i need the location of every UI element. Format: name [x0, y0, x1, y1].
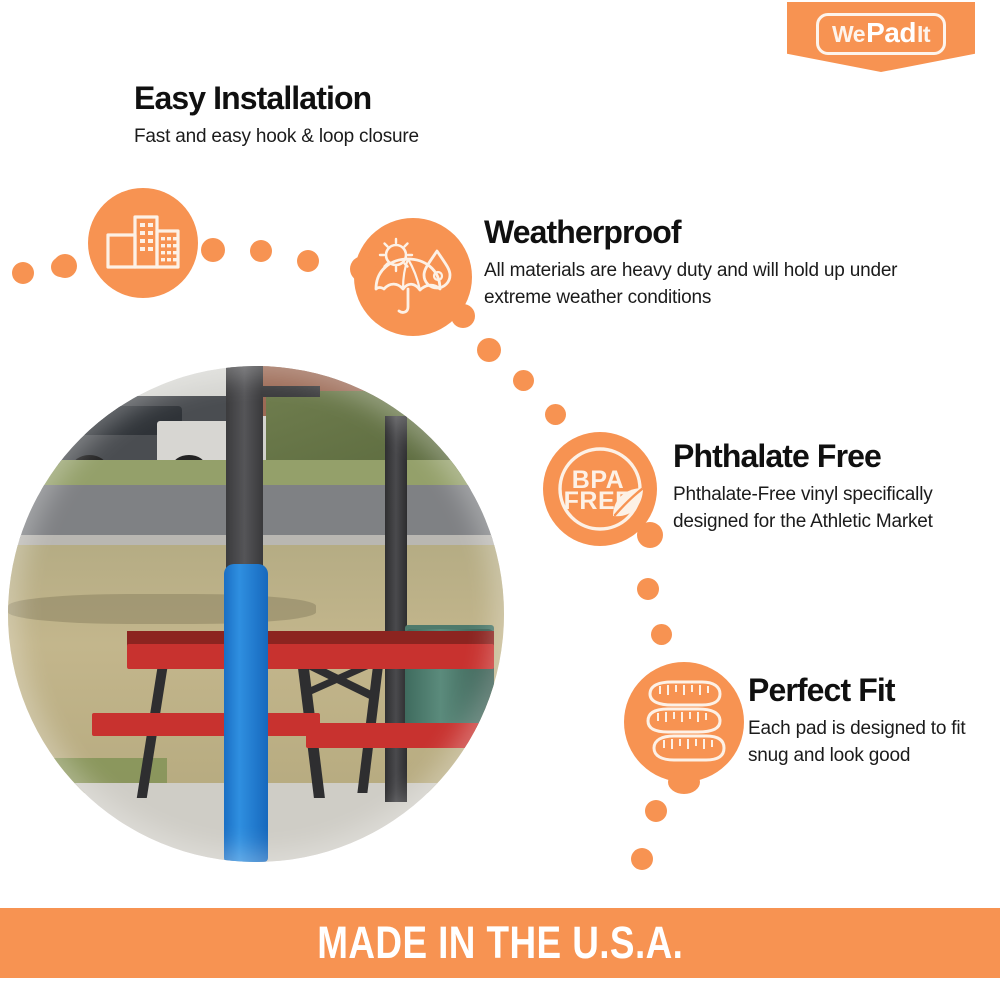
photo-blue-pole-pad	[224, 564, 269, 862]
brand-logo-it: It	[917, 23, 930, 46]
measuring-tape-icon	[624, 662, 744, 782]
icon-blob-bump	[637, 522, 663, 548]
feature-description-perfect-fit: Each pad is designed to fit snug and loo…	[748, 716, 973, 770]
feature-description-easy-installation: Fast and easy hook & loop closure	[134, 124, 554, 151]
feature-description-phthalate-free: Phthalate-Free vinyl specifically design…	[673, 482, 943, 536]
icon-blob-bump	[350, 256, 376, 282]
infographic-page: We Pad It	[0, 0, 1000, 987]
made-in-usa-banner: MADE IN THE U.S.A.	[0, 908, 1000, 978]
brand-logo-frame: We Pad It	[816, 13, 946, 55]
trail-dot	[513, 370, 534, 391]
brand-logo-we: We	[832, 23, 865, 46]
trail-dot	[12, 262, 34, 284]
trail-dot	[250, 240, 272, 262]
trail-dot	[545, 404, 566, 425]
feature-title-phthalate-free: Phthalate Free	[673, 438, 881, 475]
photo-main-post	[226, 366, 263, 584]
trail-dot	[637, 578, 659, 600]
product-photo	[8, 366, 504, 862]
photo-dirt-patch	[8, 594, 316, 624]
trail-dot	[477, 338, 501, 362]
trail-dot	[297, 250, 319, 272]
trail-dot	[645, 800, 667, 822]
brand-logo-badge: We Pad It	[787, 2, 975, 72]
brand-logo-pad: Pad	[865, 19, 917, 47]
trail-dot	[53, 254, 77, 278]
trail-dot	[651, 624, 672, 645]
feature-title-perfect-fit: Perfect Fit	[748, 672, 895, 709]
feature-title-easy-installation: Easy Installation	[134, 80, 371, 117]
made-in-usa-text: MADE IN THE U.S.A.	[317, 917, 683, 969]
feature-description-weatherproof: All materials are heavy duty and will ho…	[484, 258, 904, 312]
photo-bench-right	[306, 723, 494, 748]
feature-title-weatherproof: Weatherproof	[484, 214, 681, 251]
sun-umbrella-raindrop-icon	[354, 218, 472, 336]
photo-bench-left	[92, 713, 320, 735]
photo-post-arm	[261, 386, 321, 397]
icon-blob-bump	[451, 304, 475, 328]
photo-table-top	[127, 644, 494, 669]
trail-dot	[201, 238, 225, 262]
bpa-free-leaf-icon: BPA FREE	[543, 432, 657, 546]
icon-blob-bump	[668, 770, 700, 794]
building-icon	[88, 188, 198, 298]
trail-dot	[631, 848, 653, 870]
